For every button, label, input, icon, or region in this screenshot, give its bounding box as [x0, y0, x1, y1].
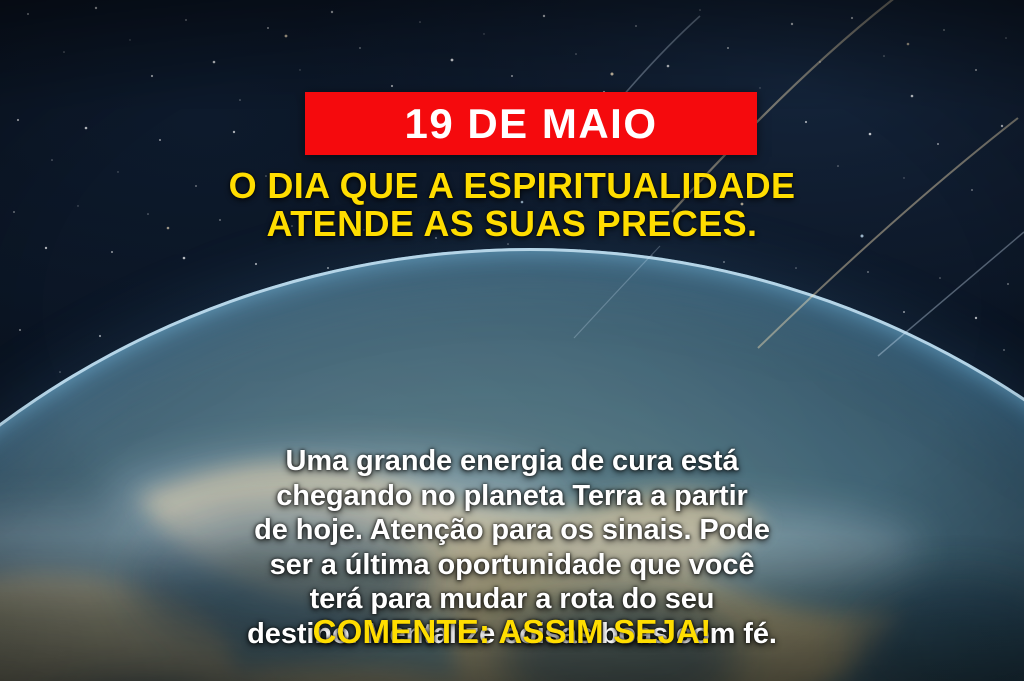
body-line-4: ser a última oportunidade que você: [50, 548, 974, 583]
body-line-5: terá para mudar a rota do seu: [50, 582, 974, 617]
headline-line-1: O DIA QUE A ESPIRITUALIDADE: [0, 167, 1024, 205]
body-line-3: de hoje. Atenção para os sinais. Pode: [50, 513, 974, 548]
poster-content: 19 DE MAIO O DIA QUE A ESPIRITUALIDADE A…: [0, 0, 1024, 685]
poster-image: 19 DE MAIO O DIA QUE A ESPIRITUALIDADE A…: [0, 0, 1024, 685]
body-line-1: Uma grande energia de cura está: [50, 444, 974, 479]
body-line-2: chegando no planeta Terra a partir: [50, 479, 974, 514]
call-to-action: COMENTE: ASSIM SEJA!: [0, 613, 1024, 651]
headline-line-2: ATENDE AS SUAS PRECES.: [0, 205, 1024, 243]
bottom-edge-strip: [0, 681, 1024, 685]
headline: O DIA QUE A ESPIRITUALIDADE ATENDE AS SU…: [0, 167, 1024, 243]
date-banner: 19 DE MAIO: [305, 92, 757, 155]
date-banner-text: 19 DE MAIO: [404, 103, 657, 145]
